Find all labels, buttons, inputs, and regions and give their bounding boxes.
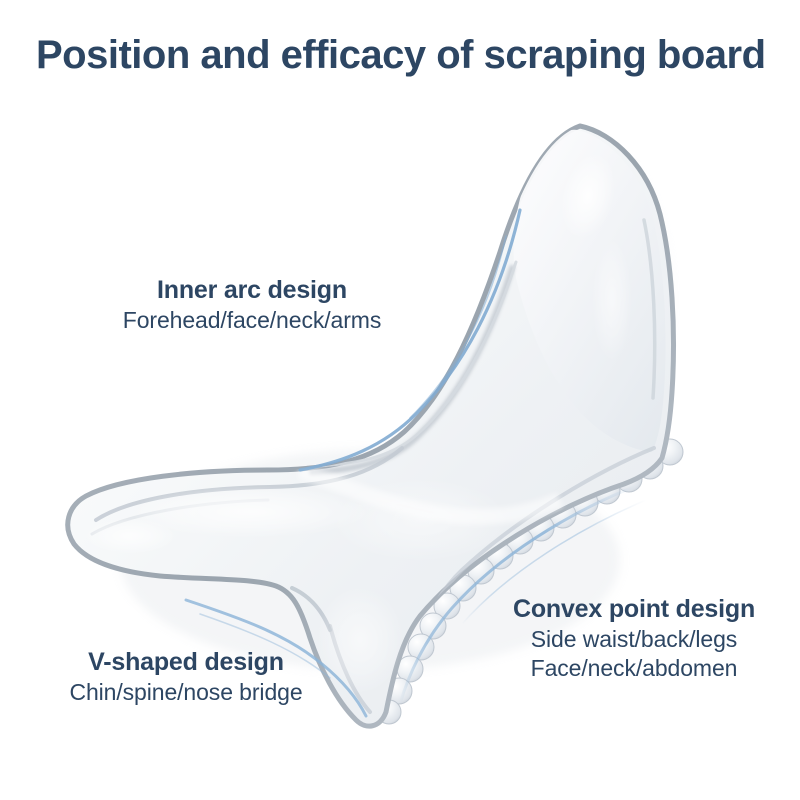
callout-inner-arc-title: Inner arc design bbox=[112, 276, 392, 306]
callout-v-shaped: V-shaped design Chin/spine/nose bridge bbox=[52, 648, 320, 707]
infographic-page: Position and efficacy of scraping board bbox=[0, 0, 800, 800]
callout-convex-point-title: Convex point design bbox=[492, 595, 776, 625]
callout-inner-arc-line-1: Forehead/face/neck/arms bbox=[112, 306, 392, 335]
callout-convex-point: Convex point design Side waist/back/legs… bbox=[492, 595, 776, 683]
callout-inner-arc: Inner arc design Forehead/face/neck/arms bbox=[112, 276, 392, 335]
callout-v-shaped-title: V-shaped design bbox=[52, 648, 320, 678]
callout-convex-point-line-2: Face/neck/abdomen bbox=[492, 654, 776, 683]
callout-convex-point-line-1: Side waist/back/legs bbox=[492, 625, 776, 654]
callout-v-shaped-line-1: Chin/spine/nose bridge bbox=[52, 678, 320, 707]
